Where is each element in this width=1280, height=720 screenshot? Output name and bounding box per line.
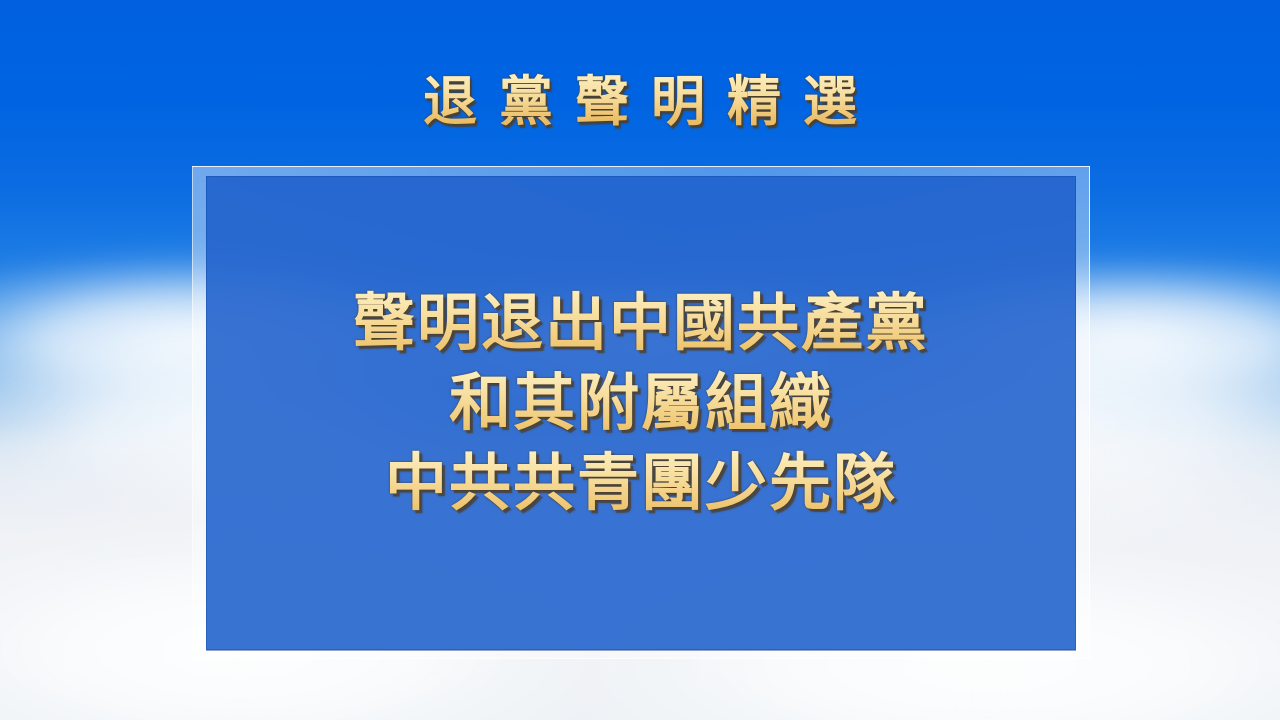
statement-line: 和其附屬組織: [206, 364, 1076, 444]
content-panel-frame: 聲明退出中國共產黨 和其附屬組織 中共共青團少先隊: [192, 166, 1090, 659]
statement-text-block: 聲明退出中國共產黨 和其附屬組織 中共共青團少先隊: [206, 284, 1076, 524]
statement-line: 中共共青團少先隊: [206, 444, 1076, 524]
content-panel: 聲明退出中國共產黨 和其附屬組織 中共共青團少先隊: [206, 176, 1076, 650]
video-frame: 退黨聲明精選 聲明退出中國共產黨 和其附屬組織 中共共青團少先隊: [0, 0, 1280, 720]
page-title: 退黨聲明精選: [0, 72, 1280, 132]
statement-line: 聲明退出中國共產黨: [206, 284, 1076, 364]
